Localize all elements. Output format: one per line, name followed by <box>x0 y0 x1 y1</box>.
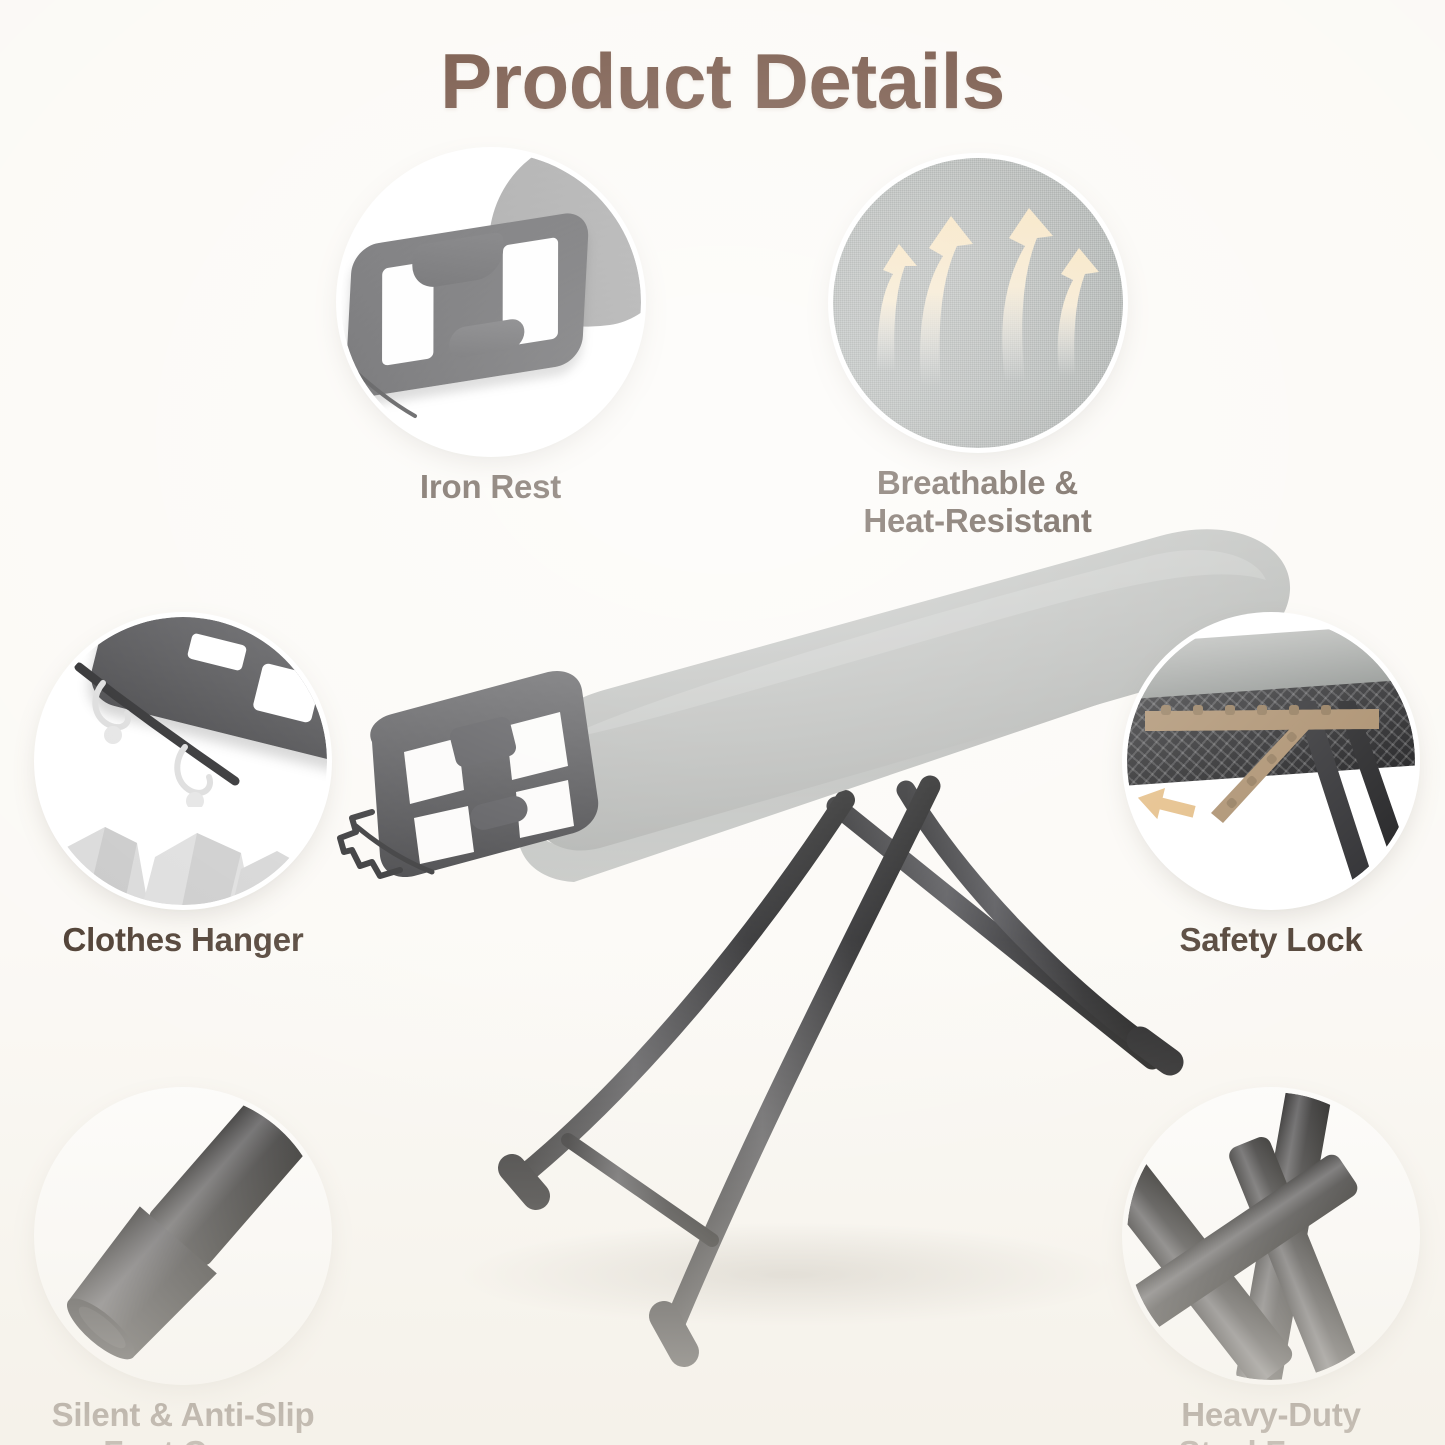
feature-caption: Silent & Anti-Slip Foot Caps <box>22 1396 344 1445</box>
crossed-steel-tubes-icon <box>1127 1092 1415 1380</box>
foot-caps-bubble[interactable] <box>39 1092 327 1380</box>
feature-safety-lock[interactable]: Safety Lock <box>1110 617 1432 959</box>
feature-caption: Breathable & Heat-Resistant <box>805 464 1150 539</box>
iron-rest-tray <box>340 671 598 877</box>
direction-arrow-icon <box>1135 783 1199 827</box>
feature-caption: Iron Rest <box>318 468 663 506</box>
product-details-infographic: Product Details <box>0 0 1445 1445</box>
safety-lock-bubble[interactable] <box>1127 617 1415 905</box>
clothes-hanger-bubble[interactable] <box>39 617 327 905</box>
height-lock-rail-icon <box>1127 617 1415 905</box>
feature-caption: Heavy-Duty Steel Frame <box>1110 1396 1432 1445</box>
breathable-bubble[interactable] <box>833 158 1123 448</box>
feature-breathable[interactable]: Breathable & Heat-Resistant <box>805 158 1150 539</box>
feature-steel-frame[interactable]: Heavy-Duty Steel Frame <box>1110 1092 1432 1445</box>
steel-frame-bubble[interactable] <box>1127 1092 1415 1380</box>
feature-foot-caps[interactable]: Silent & Anti-Slip Foot Caps <box>22 1092 344 1445</box>
feature-caption: Clothes Hanger <box>22 921 344 959</box>
hanger-wire-icon <box>341 338 441 430</box>
rubber-foot-cap-icon <box>39 1092 327 1380</box>
airflow-arrows-icon <box>833 158 1123 448</box>
page-title: Product Details <box>0 42 1445 120</box>
iron-rest-bubble[interactable] <box>341 152 641 452</box>
feature-clothes-hanger[interactable]: Clothes Hanger <box>22 617 344 959</box>
steel-leg-frame <box>512 786 1170 1352</box>
iron-rest-tray-icon <box>341 152 641 452</box>
hanger-rail-icon <box>39 617 327 905</box>
hanger-hooks-icon <box>73 657 283 807</box>
feature-iron-rest[interactable]: Iron Rest <box>318 152 663 506</box>
feature-caption: Safety Lock <box>1110 921 1432 959</box>
